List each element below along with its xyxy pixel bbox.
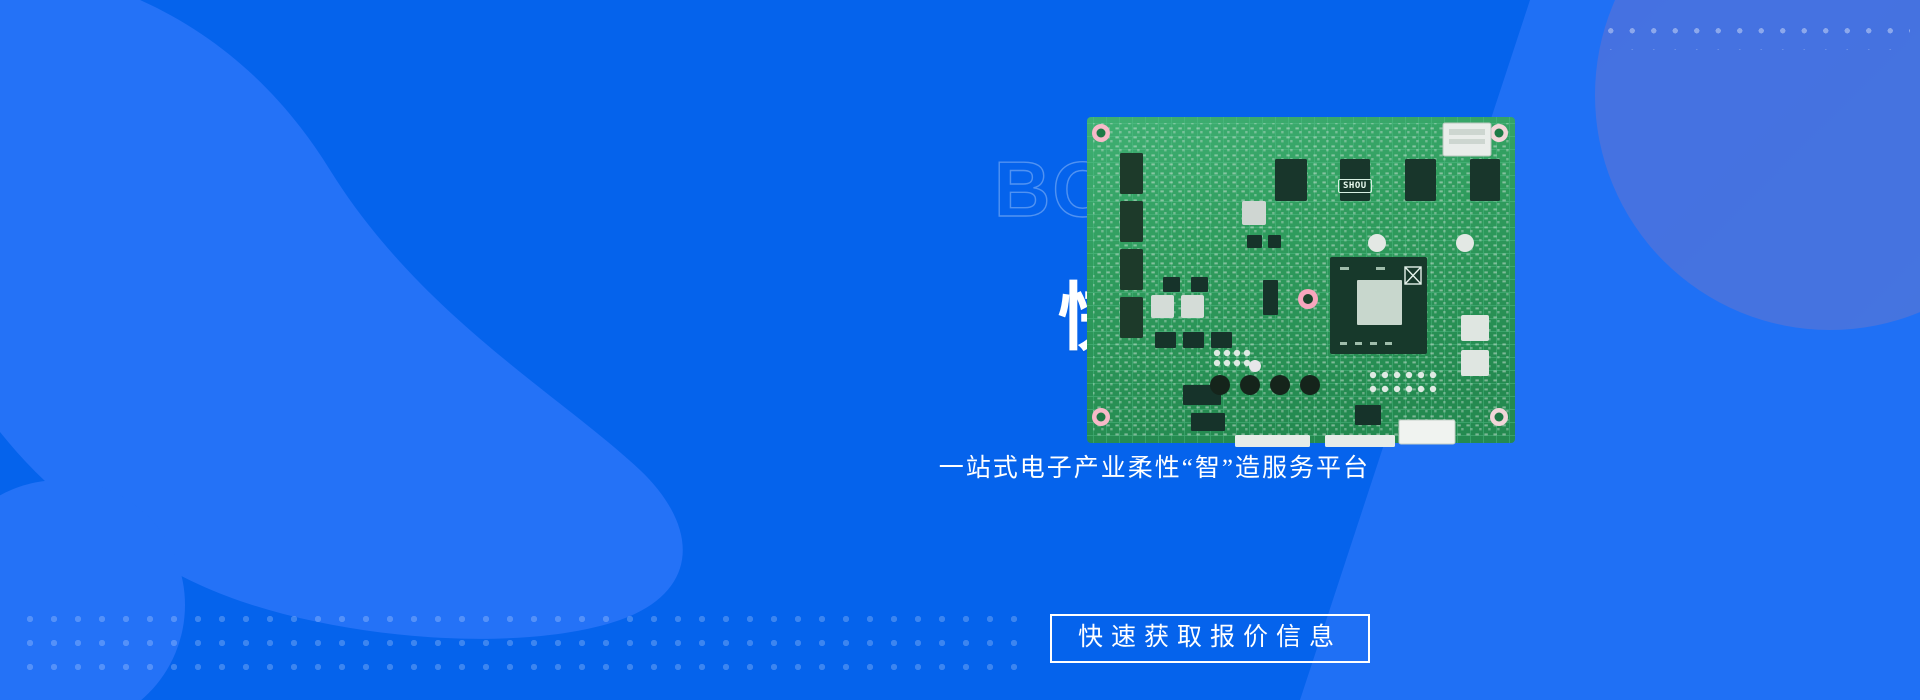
- pcb-main-processor: [1330, 257, 1427, 354]
- tagline: 一站式电子产业柔性“智”造服务平台: [690, 448, 1370, 484]
- pcb-silkscreen-label: SHOU: [1338, 179, 1372, 193]
- dot-grid-bottom-left: [18, 607, 1018, 685]
- dot-grid-top-right: [1600, 20, 1910, 50]
- pcb-board-image: SHOU: [1087, 117, 1515, 453]
- pcb-card-slot: [1443, 123, 1491, 156]
- pcb-svg: [1087, 117, 1515, 453]
- get-quote-button[interactable]: 快速获取报价信息: [1050, 614, 1370, 663]
- promo-banner: BOMBOM 一分钟 快速报价 快速获取报价信息 一站式电子产业柔性“智”造服务…: [0, 0, 1920, 700]
